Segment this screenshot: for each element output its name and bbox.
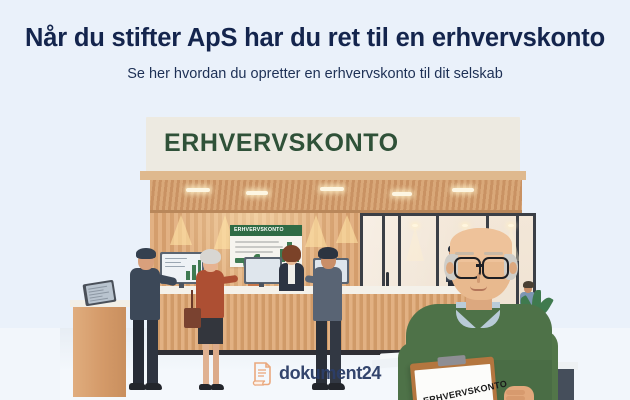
man-finger — [506, 396, 525, 400]
man-eyebrow — [484, 252, 503, 255]
clipboard-metal-clip — [437, 355, 466, 366]
suited-man-hair — [136, 248, 156, 259]
ceiling-light-strip — [392, 192, 412, 196]
clipboard-paper: ERHVERVSKONTO — [414, 364, 498, 400]
screen-chart-bar — [186, 271, 190, 280]
man-ear — [509, 262, 517, 274]
woman-shoe — [211, 384, 224, 390]
poster-text-line — [235, 246, 283, 248]
screenshot-root: Når du stifter ApS har du ret til en erh… — [0, 0, 630, 400]
page-subtitle: Se her hvordan du opretter en erhvervsko… — [0, 64, 630, 84]
woman-leg — [203, 343, 209, 387]
header: Når du stifter ApS har du ret til en erh… — [0, 0, 630, 100]
suited-man-leg — [133, 319, 144, 387]
screen-text-line — [165, 258, 187, 259]
teller-hair — [282, 245, 301, 262]
poster-header-bar: ERHVERVSKONTO — [230, 225, 302, 236]
woman-leg — [213, 343, 219, 387]
poster-text-line — [235, 251, 273, 253]
screen-text-line — [165, 262, 181, 263]
clipboard-text: ERHVERVSKONTO — [422, 382, 493, 400]
man-eyebrow — [455, 252, 474, 255]
sign-ledge — [140, 171, 526, 180]
wooden-slat-ceiling — [150, 179, 522, 213]
suited-man-shoe — [129, 383, 146, 390]
man-ear — [446, 262, 454, 274]
customer-hair — [318, 247, 338, 259]
wall-light-cone — [336, 215, 358, 243]
bank-branch-illustration: ERHVERVSKONTO — [0, 100, 630, 400]
suited-man-leg — [147, 319, 158, 387]
ceiling-light-strip — [452, 188, 474, 192]
wall-light-cone — [170, 215, 192, 245]
storefront-sign-text: ERHVERVSKONTO — [164, 129, 399, 158]
page-title: Når du stifter ApS har du ret til en erh… — [0, 22, 630, 54]
woman-skirt — [198, 316, 223, 344]
self-service-kiosk[interactable] — [73, 305, 126, 397]
counter-monitor — [244, 257, 282, 284]
monitor-stand — [259, 283, 264, 287]
screen-text-line — [165, 266, 185, 267]
document-scroll-icon — [252, 361, 273, 386]
ceiling-light-strip — [246, 191, 268, 195]
brand-logo-text: dokument24 — [279, 363, 381, 384]
man-nose — [477, 274, 480, 283]
kiosk-screen-display — [85, 282, 113, 304]
poster-header-text: ERHVERVSKONTO — [234, 227, 284, 233]
brand-logo[interactable]: dokument24 — [252, 358, 412, 388]
eyeglasses-bridge — [476, 264, 483, 267]
teller-shirt — [288, 264, 295, 284]
handbag — [184, 308, 201, 328]
woman-hair — [200, 249, 221, 264]
ceiling-light-strip — [320, 187, 344, 191]
eyeglasses-right-lens — [482, 257, 509, 279]
monitor-stand — [179, 283, 184, 288]
kiosk-screen-line — [90, 298, 108, 302]
man-mouth — [470, 286, 487, 291]
poster-text-line — [235, 241, 279, 243]
storefront-sign: ERHVERVSKONTO — [146, 117, 520, 172]
ceiling-light-strip — [186, 188, 210, 192]
suited-man-shoe — [145, 383, 162, 390]
man-finger — [506, 390, 525, 395]
customer-torso — [313, 267, 342, 321]
clipboard[interactable]: ERHVERVSKONTO — [410, 357, 502, 400]
monitor-screen — [246, 259, 280, 282]
handbag-strap — [191, 290, 193, 310]
wall-light-cone — [305, 215, 327, 247]
foreground-elderly-man: ERHVERVSKONTO — [396, 210, 596, 400]
